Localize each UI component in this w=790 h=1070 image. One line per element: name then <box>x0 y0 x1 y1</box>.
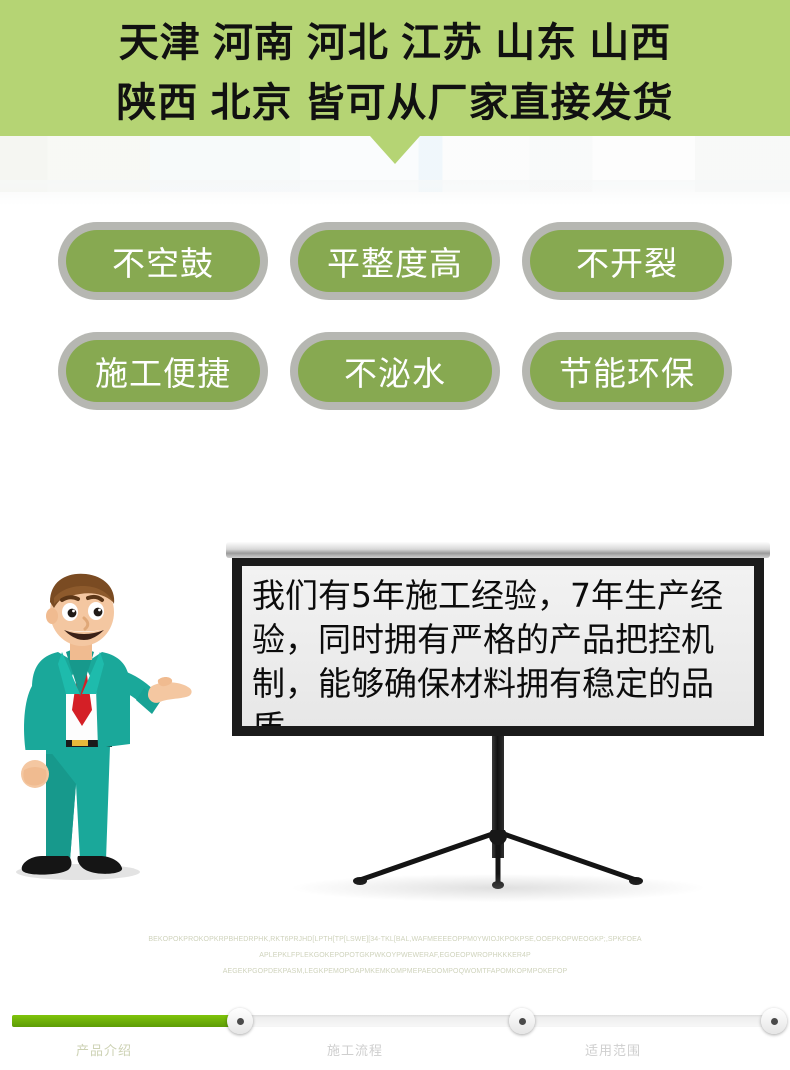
watermark-line-3: AEGEKPGOPDEKPASM,LEGKPEMOPOAPMKEMKOMPMEP… <box>0 964 790 980</box>
progress-knob-1[interactable] <box>227 1008 253 1034</box>
background-wash-fade <box>0 180 790 206</box>
feature-pill-row-2: 施工便捷 不泌水 节能环保 <box>0 332 790 410</box>
feature-pill-label: 不开裂 <box>530 230 724 292</box>
step-label-scope-of-use[interactable]: 适用范围 <box>585 1040 641 1059</box>
watermark-line-1: BEKOPOKPROKOPKRPBHEDRPHK,RKT6PRJHD[LPTH[… <box>0 932 790 948</box>
feature-pill-label: 节能环保 <box>530 340 724 402</box>
feature-pill[interactable]: 施工便捷 <box>58 332 268 410</box>
feature-pill-label: 不空鼓 <box>66 230 260 292</box>
feature-pill[interactable]: 节能环保 <box>522 332 732 410</box>
progress-stepper[interactable]: 产品介绍 施工流程 适用范围 <box>0 1006 790 1070</box>
step-label-row: 产品介绍 施工流程 适用范围 <box>0 1040 790 1062</box>
progress-knob-2[interactable] <box>509 1008 535 1034</box>
feature-pill-label: 平整度高 <box>298 230 492 292</box>
businessman-illustration <box>6 568 216 898</box>
screen-ground-shadow <box>293 874 703 902</box>
progress-fill <box>12 1015 240 1027</box>
step-label-construction-process[interactable]: 施工流程 <box>327 1040 383 1059</box>
screen-roller-bar <box>226 542 770 558</box>
screen-message: 我们有5年施工经验，7年生产经验，同时拥有严格的产品把控机制，能够确保材料拥有稳… <box>252 574 744 726</box>
feature-pill[interactable]: 不空鼓 <box>58 222 268 300</box>
projector-screen: 我们有5年施工经验，7年生产经验，同时拥有严格的产品把控机制，能够确保材料拥有稳… <box>218 542 778 742</box>
banner-line-2: 陕西 北京 皆可从厂家直接发货 <box>0 72 790 132</box>
feature-pill-label: 施工便捷 <box>66 340 260 402</box>
header-banner: 天津 河南 河北 江苏 山东 山西 陕西 北京 皆可从厂家直接发货 <box>0 0 790 136</box>
illustration-scene: 我们有5年施工经验，7年生产经验，同时拥有严格的产品把控机制，能够确保材料拥有稳… <box>0 520 790 920</box>
product-detail-page: 天津 河南 河北 江苏 山东 山西 陕西 北京 皆可从厂家直接发货 不空鼓 平整… <box>0 0 790 1070</box>
feature-pill-grid: 不空鼓 平整度高 不开裂 施工便捷 不泌水 节能环保 <box>0 222 790 442</box>
feature-pill[interactable]: 不开裂 <box>522 222 732 300</box>
screen-surface: 我们有5年施工经验，7年生产经验，同时拥有严格的产品把控机制，能够确保材料拥有稳… <box>242 566 754 726</box>
feature-pill[interactable]: 不泌水 <box>290 332 500 410</box>
step-label-product-intro[interactable]: 产品介绍 <box>76 1040 132 1059</box>
feature-pill-label: 不泌水 <box>298 340 492 402</box>
banner-line-1: 天津 河南 河北 江苏 山东 山西 <box>0 0 790 72</box>
progress-knob-3[interactable] <box>761 1008 787 1034</box>
feature-pill-row-1: 不空鼓 平整度高 不开裂 <box>0 222 790 300</box>
feature-pill[interactable]: 平整度高 <box>290 222 500 300</box>
watermark-line-2: APLEPKLFPLEKGOKEPOPOTGKPWKOYPWEWERAF,EGO… <box>0 948 790 964</box>
banner-arrow-down-icon <box>370 136 420 164</box>
watermark-text: BEKOPOKPROKOPKRPBHEDRPHK,RKT6PRJHD[LPTH[… <box>0 932 790 980</box>
screen-frame: 我们有5年施工经验，7年生产经验，同时拥有严格的产品把控机制，能够确保材料拥有稳… <box>232 558 764 736</box>
